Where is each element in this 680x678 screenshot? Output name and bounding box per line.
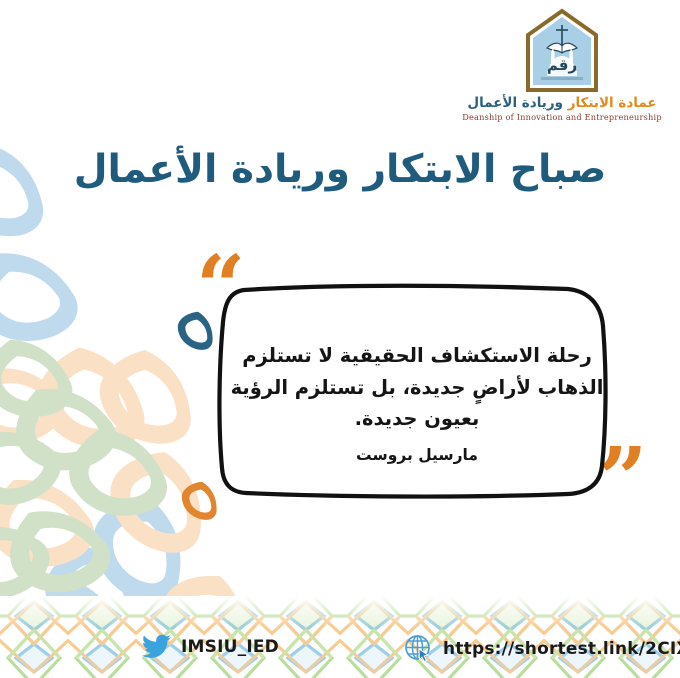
globe-cursor-icon[interactable] [404,634,434,664]
organization-logo: رقم عمادة الابتكار وريادة الأعمال Deansh… [462,8,662,122]
website-link-item[interactable]: https://shortest.link/2CIX [404,634,680,664]
quote-block: “ ” رحلة الاستكشاف الحقيقية لا تستلزم ال… [196,258,666,528]
org-name-arabic-part1: عمادة الابتكار [568,95,657,111]
footer-band: IMSIU_IED https://shortest.link/2CIX [0,596,680,678]
quote-text: رحلة الاستكشاف الحقيقية لا تستلزم الذهاب… [224,340,610,435]
twitter-handle-item[interactable]: IMSIU_IED [142,634,279,660]
imsiu-university-emblem-icon: رقم [523,8,601,94]
page-title: صباح الابتكار وريادة الأعمال [0,148,680,193]
svg-text:رقم: رقم [547,56,577,74]
org-name-arabic-part2: وريادة الأعمال [467,95,563,111]
org-name-arabic: عمادة الابتكار وريادة الأعمال [462,96,662,111]
poster-canvas: رقم عمادة الابتكار وريادة الأعمال Deansh… [0,0,680,678]
website-url-label: https://shortest.link/2CIX [443,639,680,659]
quote-author: مارسيل بروست [224,446,610,464]
twitter-handle-label: IMSIU_IED [181,637,279,657]
twitter-bird-icon[interactable] [142,634,172,660]
org-name-english: Deanship of Innovation and Entrepreneurs… [462,112,662,122]
